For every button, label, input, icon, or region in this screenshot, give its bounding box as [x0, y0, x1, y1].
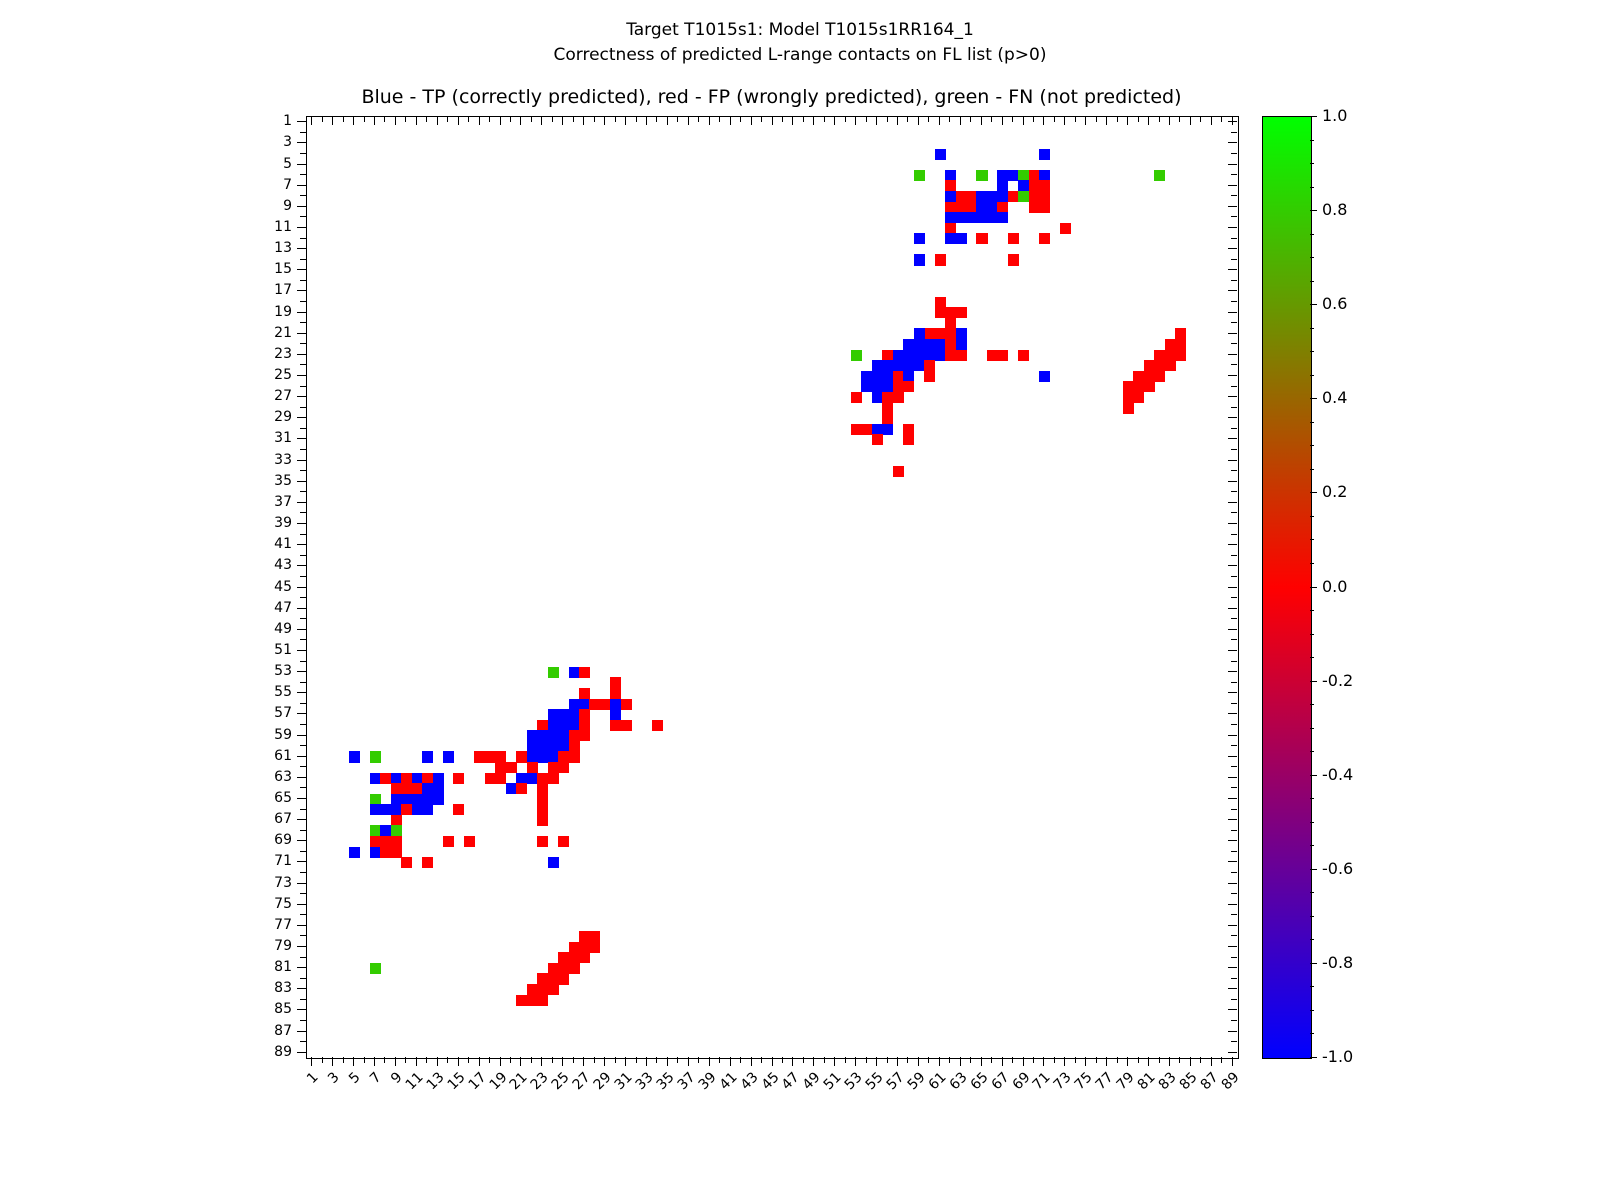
- contact-cell-tp: [558, 741, 569, 752]
- y-axis-tick-right: [1231, 978, 1237, 979]
- x-axis-tick: [1148, 1057, 1149, 1066]
- y-axis-tick: [300, 195, 306, 196]
- x-axis-tick: [939, 1057, 940, 1066]
- x-axis-tick-top: [845, 116, 846, 122]
- contact-cell-fp: [1039, 233, 1050, 244]
- y-axis-tick: [297, 438, 306, 439]
- colorbar-minor-tick: [1310, 563, 1314, 564]
- x-axis-tick-top: [541, 116, 542, 125]
- x-axis-tick: [698, 1057, 699, 1063]
- contact-cell-fp: [882, 392, 893, 403]
- x-axis-tick: [855, 1057, 856, 1066]
- contact-cell-fp: [453, 804, 464, 815]
- contact-cell-fp: [485, 751, 496, 762]
- y-axis-tick-label: 57: [252, 706, 292, 720]
- y-axis-tick: [297, 375, 306, 376]
- x-axis-tick-top: [646, 116, 647, 125]
- x-axis-tick: [625, 1057, 626, 1066]
- colorbar-minor-tick: [1310, 728, 1314, 729]
- contact-cell-fp: [893, 466, 904, 477]
- y-axis-tick: [297, 333, 306, 334]
- contact-cell-fp: [1123, 392, 1134, 403]
- contact-cell-fp: [548, 963, 559, 974]
- contact-cell-tp: [872, 371, 883, 382]
- colorbar-minor-tick: [1310, 963, 1314, 964]
- x-axis-tick: [803, 1057, 804, 1063]
- contact-cell-fp: [558, 836, 569, 847]
- contact-cell-fp: [579, 931, 590, 942]
- x-axis-tick-top: [792, 116, 793, 125]
- contact-cell-fp: [422, 857, 433, 868]
- contact-cell-tp: [945, 233, 956, 244]
- x-axis-tick-top: [876, 116, 877, 125]
- contact-cell-fp: [610, 677, 621, 688]
- y-axis-tick-right: [1231, 512, 1237, 513]
- y-axis-tick-right: [1228, 142, 1237, 143]
- contact-cell-fp: [474, 751, 485, 762]
- y-axis-tick-right: [1228, 544, 1237, 545]
- x-axis-tick-top: [510, 116, 511, 122]
- y-axis-tick: [297, 713, 306, 714]
- contact-cell-fp: [956, 202, 967, 213]
- x-axis-tick: [1200, 1057, 1201, 1063]
- contact-cell-fp: [380, 836, 391, 847]
- x-axis-tick: [792, 1057, 793, 1066]
- y-axis-tick-right: [1231, 343, 1237, 344]
- y-axis-tick-label: 63: [252, 770, 292, 784]
- contact-cell-fp: [945, 307, 956, 318]
- contact-cell-tp: [548, 730, 559, 741]
- y-axis-tick: [297, 227, 306, 228]
- y-axis-tick-right: [1228, 333, 1237, 334]
- contact-cell-tp: [527, 773, 538, 784]
- contact-cell-tp: [569, 699, 580, 710]
- x-axis-tick: [510, 1057, 511, 1063]
- x-axis-tick-top: [740, 116, 741, 122]
- x-axis-tick-top: [489, 116, 490, 122]
- y-axis-tick-label: 27: [252, 389, 292, 403]
- x-axis-tick-top: [625, 116, 626, 125]
- contact-cell-fp: [579, 720, 590, 731]
- contact-cell-tp: [997, 170, 1008, 181]
- x-axis-tick: [374, 1057, 375, 1066]
- x-axis-tick-top: [939, 116, 940, 125]
- x-axis-tick-top: [960, 116, 961, 125]
- contact-cell-fp: [1175, 350, 1186, 361]
- contact-cell-fp: [485, 773, 496, 784]
- x-axis-tick-top: [907, 116, 908, 122]
- x-axis-tick-top: [458, 116, 459, 125]
- y-axis-tick-label: 21: [252, 326, 292, 340]
- contact-cell-fp: [851, 392, 862, 403]
- contact-cell-tp: [945, 191, 956, 202]
- contact-cell-tp: [380, 825, 391, 836]
- x-axis-tick: [991, 1057, 992, 1063]
- contact-cell-fp: [527, 995, 538, 1006]
- contact-cell-fp: [1029, 191, 1040, 202]
- contact-cell-fp: [621, 699, 632, 710]
- contact-cell-fn: [370, 825, 381, 836]
- y-axis-tick-right: [1228, 1009, 1237, 1010]
- y-axis-tick: [300, 280, 306, 281]
- colorbar-minor-tick: [1310, 116, 1314, 117]
- y-axis-tick: [300, 914, 306, 915]
- contact-cell-fn: [914, 170, 925, 181]
- y-axis-tick-right: [1228, 523, 1237, 524]
- y-axis-tick-right: [1228, 650, 1237, 651]
- contact-cell-fp: [537, 815, 548, 826]
- colorbar-minor-tick: [1310, 587, 1314, 588]
- y-axis-tick: [297, 206, 306, 207]
- contact-cell-fp: [589, 931, 600, 942]
- colorbar-minor-tick: [1310, 751, 1314, 752]
- y-axis-tick-right: [1231, 1020, 1237, 1021]
- x-axis-tick: [1221, 1057, 1222, 1063]
- contact-cell-tp: [935, 149, 946, 160]
- contact-cell-fp: [548, 762, 559, 773]
- colorbar-minor-tick: [1310, 516, 1314, 517]
- contact-cell-tp: [579, 699, 590, 710]
- y-axis-tick-label: 81: [252, 960, 292, 974]
- y-axis-tick: [300, 999, 306, 1000]
- contact-cell-fp: [569, 952, 580, 963]
- colorbar-minor-tick: [1310, 657, 1314, 658]
- y-axis-tick: [297, 523, 306, 524]
- colorbar-minor-tick: [1310, 1010, 1314, 1011]
- contact-cell-tp: [370, 847, 381, 858]
- y-axis-tick: [300, 703, 306, 704]
- y-axis-tick-right: [1231, 322, 1237, 323]
- y-axis-tick: [300, 259, 306, 260]
- contact-cell-fn: [1018, 170, 1029, 181]
- contact-cell-tp: [433, 773, 444, 784]
- y-axis-tick: [300, 449, 306, 450]
- x-axis-tick-top: [1064, 116, 1065, 125]
- y-axis-tick: [300, 386, 306, 387]
- x-axis-tick-top: [1148, 116, 1149, 125]
- x-axis-tick: [834, 1057, 835, 1066]
- contact-cell-fp: [1123, 402, 1134, 413]
- x-axis-tick: [552, 1057, 553, 1063]
- contact-cell-fp: [401, 857, 412, 868]
- contact-cell-tp: [1008, 170, 1019, 181]
- y-axis-tick-label: 25: [252, 368, 292, 382]
- y-axis-tick-right: [1231, 724, 1237, 725]
- contact-cell-fp: [401, 783, 412, 794]
- contact-cell-fp: [652, 720, 663, 731]
- x-axis-tick: [520, 1057, 521, 1066]
- x-axis-tick: [866, 1057, 867, 1063]
- colorbar-tick-label: -0.8: [1322, 955, 1353, 971]
- y-axis-tick-label: 75: [252, 897, 292, 911]
- x-axis-tick: [876, 1057, 877, 1066]
- x-axis-tick: [1064, 1057, 1065, 1066]
- x-axis-tick-top: [468, 116, 469, 122]
- contact-cell-fp: [945, 339, 956, 350]
- contact-cell-fp: [1008, 191, 1019, 202]
- colorbar-minor-tick: [1310, 681, 1314, 682]
- x-axis-tick: [730, 1057, 731, 1066]
- contact-cell-fp: [956, 191, 967, 202]
- contact-cell-tp: [422, 804, 433, 815]
- y-axis-tick-label: 71: [252, 854, 292, 868]
- x-axis-tick: [740, 1057, 741, 1063]
- colorbar-minor-tick: [1310, 375, 1314, 376]
- contact-cell-fn: [370, 751, 381, 762]
- x-axis-tick: [1127, 1057, 1128, 1066]
- y-axis-tick: [297, 417, 306, 418]
- colorbar-minor-tick: [1310, 704, 1314, 705]
- y-axis-tick-right: [1231, 364, 1237, 365]
- colorbar-tick-label: 0.8: [1322, 202, 1347, 218]
- x-axis-tick: [1106, 1057, 1107, 1066]
- contact-cell-tp: [412, 794, 423, 805]
- x-axis-tick-top: [374, 116, 375, 125]
- colorbar-minor-tick: [1310, 210, 1314, 211]
- x-axis-tick: [845, 1057, 846, 1063]
- y-axis-tick-label: 39: [252, 516, 292, 530]
- y-axis-tick: [300, 978, 306, 979]
- contact-cell-fp: [527, 984, 538, 995]
- colorbar-minor-tick: [1310, 775, 1314, 776]
- y-axis-tick: [297, 185, 306, 186]
- contact-cell-fp: [506, 762, 517, 773]
- contact-cell-tp: [997, 212, 1008, 223]
- colorbar-minor-tick: [1310, 445, 1314, 446]
- contact-cell-tp: [548, 751, 559, 762]
- x-axis-tick-top: [1179, 116, 1180, 122]
- x-axis-tick: [813, 1057, 814, 1066]
- y-axis-tick-label: 31: [252, 431, 292, 445]
- x-axis-tick-top: [824, 116, 825, 122]
- x-axis-tick: [646, 1057, 647, 1066]
- contact-cell-tp: [976, 191, 987, 202]
- x-axis-tick: [426, 1057, 427, 1063]
- contact-cell-fp: [945, 180, 956, 191]
- x-axis-tick-top: [594, 116, 595, 122]
- y-axis-tick-right: [1228, 312, 1237, 313]
- contact-cell-fp: [537, 720, 548, 731]
- x-axis-tick-top: [1002, 116, 1003, 125]
- colorbar-minor-tick: [1310, 892, 1314, 893]
- contact-cell-tp: [861, 381, 872, 392]
- x-axis-tick: [447, 1057, 448, 1063]
- x-axis-tick-top: [615, 116, 616, 122]
- x-axis-tick-top: [479, 116, 480, 125]
- y-axis-tick-right: [1231, 470, 1237, 471]
- contact-cell-fp: [1133, 381, 1144, 392]
- y-axis-tick-right: [1228, 185, 1237, 186]
- contact-cell-tp: [935, 350, 946, 361]
- contact-cell-fp: [935, 297, 946, 308]
- x-axis-tick: [949, 1057, 950, 1063]
- x-axis-tick-top: [1117, 116, 1118, 122]
- contact-cell-fp: [1029, 180, 1040, 191]
- contact-cell-tp: [882, 371, 893, 382]
- x-axis-tick: [1023, 1057, 1024, 1066]
- contact-cell-fp: [370, 836, 381, 847]
- y-axis-tick-right: [1228, 396, 1237, 397]
- y-axis-tick-label: 43: [252, 558, 292, 572]
- contact-cell-fp: [1165, 360, 1176, 371]
- x-axis-tick: [887, 1057, 888, 1063]
- contact-cell-fp: [893, 371, 904, 382]
- x-axis-tick-top: [751, 116, 752, 125]
- contact-cell-tp: [1018, 180, 1029, 191]
- y-axis-tick: [297, 988, 306, 989]
- contact-cell-fp: [579, 942, 590, 953]
- x-axis-tick: [1117, 1057, 1118, 1063]
- y-axis-tick: [297, 248, 306, 249]
- x-axis-tick: [719, 1057, 720, 1063]
- contact-cell-fp: [1123, 381, 1134, 392]
- colorbar-minor-tick: [1310, 986, 1314, 987]
- contact-cell-fp: [589, 942, 600, 953]
- contact-cell-fp: [516, 751, 527, 762]
- y-axis-tick-right: [1231, 174, 1237, 175]
- contact-cell-tp: [987, 212, 998, 223]
- x-axis-tick-top: [991, 116, 992, 122]
- x-axis-tick-top: [353, 116, 354, 125]
- contact-cell-tp: [610, 709, 621, 720]
- contact-cell-tp: [956, 328, 967, 339]
- x-axis-tick: [1075, 1057, 1076, 1063]
- contact-cell-fp: [1154, 371, 1165, 382]
- y-axis-tick-label: 55: [252, 685, 292, 699]
- x-axis-tick-top: [1138, 116, 1139, 122]
- y-axis-tick-label: 35: [252, 474, 292, 488]
- x-axis-tick-top: [1221, 116, 1222, 122]
- contact-cell-tp: [893, 360, 904, 371]
- contact-cell-tp: [976, 202, 987, 213]
- y-axis-tick-right: [1231, 195, 1237, 196]
- y-axis-tick: [297, 883, 306, 884]
- contact-cell-fp: [1133, 371, 1144, 382]
- y-axis-tick-right: [1231, 745, 1237, 746]
- contact-cell-fp: [610, 720, 621, 731]
- contact-cell-tp: [966, 212, 977, 223]
- y-axis-tick-label: 45: [252, 580, 292, 594]
- contact-cell-tp: [997, 191, 1008, 202]
- contact-cell-tp: [349, 847, 360, 858]
- x-axis-tick: [364, 1057, 365, 1063]
- x-axis-tick: [1179, 1057, 1180, 1063]
- contact-cell-tp: [370, 773, 381, 784]
- contact-cell-fp: [548, 984, 559, 995]
- x-axis-tick: [395, 1057, 396, 1066]
- contact-cell-tp: [349, 751, 360, 762]
- y-axis-tick: [297, 840, 306, 841]
- colorbar-minor-tick: [1310, 234, 1314, 235]
- x-axis-tick: [500, 1057, 501, 1066]
- x-axis-tick-top: [866, 116, 867, 122]
- contact-cell-fn: [548, 667, 559, 678]
- y-axis-tick: [297, 756, 306, 757]
- contact-cell-tp: [935, 339, 946, 350]
- x-axis-tick-top: [782, 116, 783, 122]
- contact-cell-fp: [464, 836, 475, 847]
- contact-cell-tp: [548, 741, 559, 752]
- y-axis-tick-right: [1231, 618, 1237, 619]
- y-axis-tick: [297, 396, 306, 397]
- x-axis-tick: [981, 1057, 982, 1066]
- x-axis-tick-top: [1127, 116, 1128, 125]
- colorbar-minor-tick: [1310, 798, 1314, 799]
- contact-cell-tp: [537, 751, 548, 762]
- x-axis-tick: [824, 1057, 825, 1063]
- y-axis-tick: [297, 777, 306, 778]
- y-axis-tick-right: [1231, 259, 1237, 260]
- x-axis-tick: [1169, 1057, 1170, 1066]
- y-axis-tick-right: [1228, 756, 1237, 757]
- contact-cell-fp: [1175, 339, 1186, 350]
- contact-cell-fp: [987, 350, 998, 361]
- y-axis-tick-right: [1228, 587, 1237, 588]
- contact-cell-fp: [1144, 381, 1155, 392]
- y-axis-tick: [300, 872, 306, 873]
- x-axis-tick: [1043, 1057, 1044, 1066]
- contact-cell-fn: [1154, 170, 1165, 181]
- y-axis-tick-label: 19: [252, 305, 292, 319]
- y-axis-tick: [300, 216, 306, 217]
- contact-cell-fp: [537, 773, 548, 784]
- contact-map-cells: [307, 117, 1238, 1058]
- x-axis-tick-top: [1023, 116, 1024, 125]
- y-axis-tick-label: 23: [252, 347, 292, 361]
- contact-cell-fp: [1165, 339, 1176, 350]
- x-axis-tick-top: [698, 116, 699, 122]
- x-axis-tick-top: [636, 116, 637, 122]
- colorbar-tick-label: 0.6: [1322, 296, 1347, 312]
- y-axis-tick: [297, 1009, 306, 1010]
- contact-cell-fp: [391, 815, 402, 826]
- contact-cell-tp: [391, 773, 402, 784]
- y-axis-tick: [300, 724, 306, 725]
- y-axis-tick: [300, 766, 306, 767]
- x-axis-tick-top: [981, 116, 982, 125]
- contact-cell-tp: [412, 773, 423, 784]
- contact-cell-tp: [914, 339, 925, 350]
- x-axis-tick-top: [552, 116, 553, 122]
- y-axis-tick: [297, 121, 306, 122]
- colorbar-minor-tick: [1310, 398, 1314, 399]
- x-axis-tick: [583, 1057, 584, 1066]
- contact-cell-tp: [391, 804, 402, 815]
- contact-cell-fp: [924, 371, 935, 382]
- y-axis-tick-label: 73: [252, 876, 292, 890]
- y-axis-tick: [297, 650, 306, 651]
- contact-cell-fp: [495, 751, 506, 762]
- y-axis-tick-right: [1231, 914, 1237, 915]
- y-axis-tick-right: [1231, 386, 1237, 387]
- contact-cell-tp: [945, 170, 956, 181]
- x-axis-tick-top: [730, 116, 731, 125]
- y-axis-tick-label: 47: [252, 601, 292, 615]
- contact-cell-fp: [579, 667, 590, 678]
- x-axis-tick-top: [384, 116, 385, 122]
- x-axis-tick-top: [1012, 116, 1013, 122]
- contact-cell-fn: [1018, 191, 1029, 202]
- y-axis-tick-right: [1228, 438, 1237, 439]
- y-axis-tick: [300, 301, 306, 302]
- x-axis-tick: [667, 1057, 668, 1066]
- x-axis-tick-top: [834, 116, 835, 125]
- y-axis-tick-right: [1228, 840, 1237, 841]
- x-axis-tick: [479, 1057, 480, 1066]
- y-axis-tick: [300, 153, 306, 154]
- x-axis-tick: [1012, 1057, 1013, 1063]
- contact-cell-tp: [903, 360, 914, 371]
